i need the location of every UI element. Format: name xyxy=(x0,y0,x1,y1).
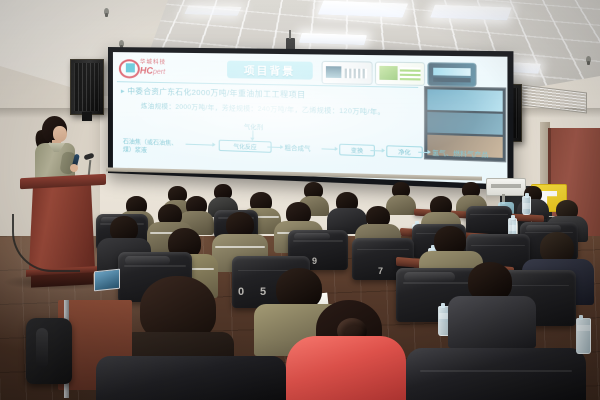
seat-highlight xyxy=(294,233,330,240)
slide-title: 项目背景 xyxy=(227,61,313,80)
slide-thumbnail-2 xyxy=(375,62,425,86)
shoulders xyxy=(386,195,416,215)
slide-body-line-2: 炼油规模：2000万吨/年，芳烃规模：240万吨/年，乙烯规模：120万吨/年。 xyxy=(141,100,385,116)
panel-light-5 xyxy=(184,5,241,16)
flow-mid-label: 粗合成气 xyxy=(285,143,311,153)
wall-speaker-left xyxy=(70,59,104,115)
speaker-grill xyxy=(74,63,100,111)
slide-logo-latin-brand: HCpert xyxy=(140,65,165,76)
laptop-screen xyxy=(94,269,120,292)
seat-number: 5 xyxy=(260,286,266,298)
flow-arrow-1 xyxy=(186,144,215,146)
seat-highlight xyxy=(526,225,561,232)
seat-number: 9 xyxy=(312,256,317,266)
panel-light-2 xyxy=(430,5,512,21)
foreground-seat-left[interactable] xyxy=(96,356,286,400)
podium-base xyxy=(31,272,93,287)
sprinkler-1 xyxy=(104,8,109,15)
slide-thumbnail-1 xyxy=(322,61,373,85)
panel-light-1 xyxy=(318,0,408,17)
backpack[interactable] xyxy=(26,318,72,384)
flow-input-label-2: 煤）浆液 xyxy=(123,145,147,155)
projection-screen: 华城科技 HCpert 项目背景 中委合资广东石化2 xyxy=(113,52,508,184)
flow-vertical-arrow xyxy=(252,130,253,139)
slide-bullet-1: 中委合资广东石化2000万吨/年重油加工工程项目 xyxy=(121,85,306,100)
thumb-strip-row-2 xyxy=(427,112,502,135)
water-bottle xyxy=(576,318,591,354)
sprinkler-2 xyxy=(119,40,124,47)
slide-logo-hc: HC xyxy=(140,65,153,75)
seat-number: 0 xyxy=(238,286,244,298)
seat[interactable] xyxy=(466,206,512,236)
slide-logo-mark xyxy=(119,59,140,78)
laptop[interactable] xyxy=(94,269,120,292)
thumb-strip-row-1 xyxy=(427,89,502,111)
uniform-reflective-stripe xyxy=(215,246,265,248)
shoulders xyxy=(448,296,536,348)
seat-highlight xyxy=(125,256,169,265)
foreground-seat-right[interactable] xyxy=(406,348,586,400)
conference-room: 华城科技 HCpert 项目背景 中委合资广东石化2 xyxy=(0,0,600,400)
presenter-hand xyxy=(70,164,78,172)
flow-output-label: 氢气、燃料气产品 xyxy=(432,148,488,160)
podium-top xyxy=(20,174,106,190)
seat-number: 7 xyxy=(378,266,383,276)
foreground-person-red-jacket xyxy=(286,336,406,400)
sprinkler-3 xyxy=(586,56,591,63)
slide-title-band: 项目背景 xyxy=(227,61,313,80)
seat-highlight xyxy=(404,272,454,282)
wall-notice-sign xyxy=(486,178,526,196)
screenshot-root: 华城科技 HCpert 项目背景 中委合资广东石化2 xyxy=(0,0,600,400)
slide-thumbnail-3 xyxy=(427,62,476,87)
flow-arrow-3 xyxy=(322,148,337,150)
water-bottle xyxy=(522,196,531,215)
flow-box-gasification: 气化反应 xyxy=(219,140,272,153)
flow-top-label: 气化剂 xyxy=(244,122,263,132)
slide-logo-pert: pert xyxy=(153,69,165,76)
